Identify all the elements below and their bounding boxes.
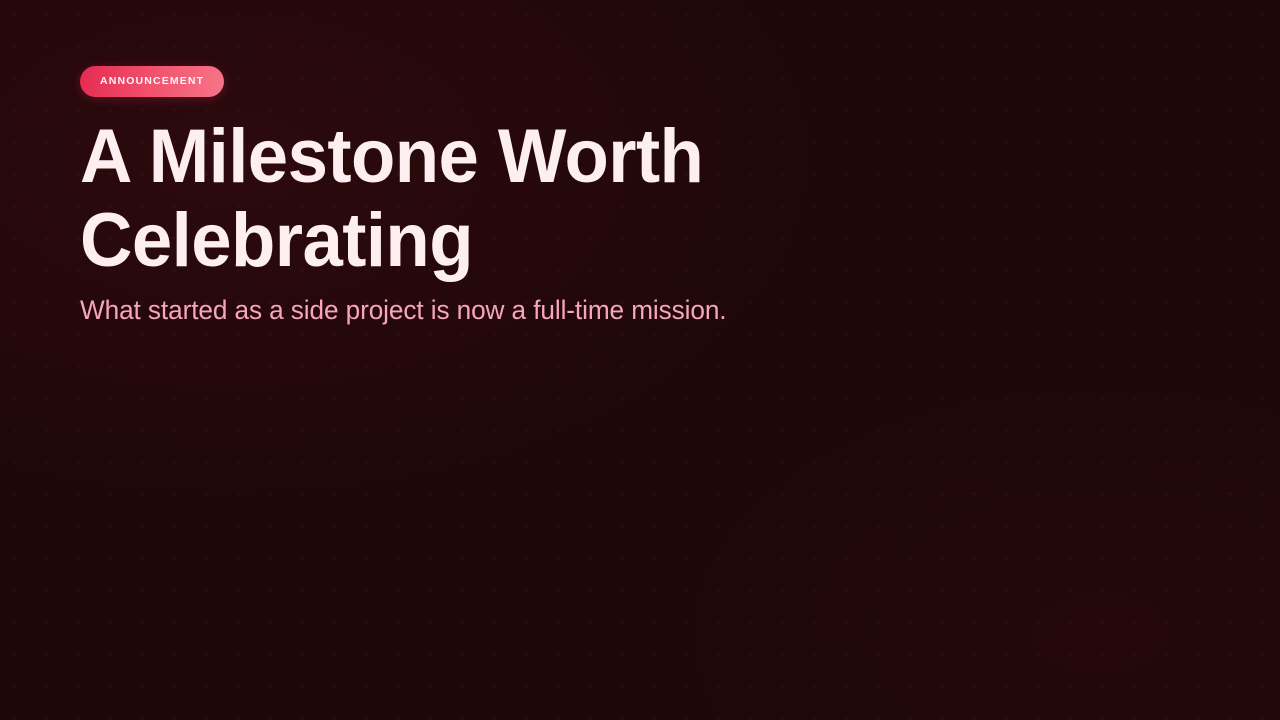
- page-title: A Milestone Worth Celebrating: [80, 115, 749, 283]
- announcement-hero-slide: ANNOUNCEMENT A Milestone Worth Celebrati…: [0, 0, 1280, 720]
- announcement-badge[interactable]: ANNOUNCEMENT: [80, 66, 224, 97]
- hero-content: ANNOUNCEMENT A Milestone Worth Celebrati…: [80, 66, 840, 327]
- hero-subtitle: What started as a side project is now a …: [80, 293, 817, 327]
